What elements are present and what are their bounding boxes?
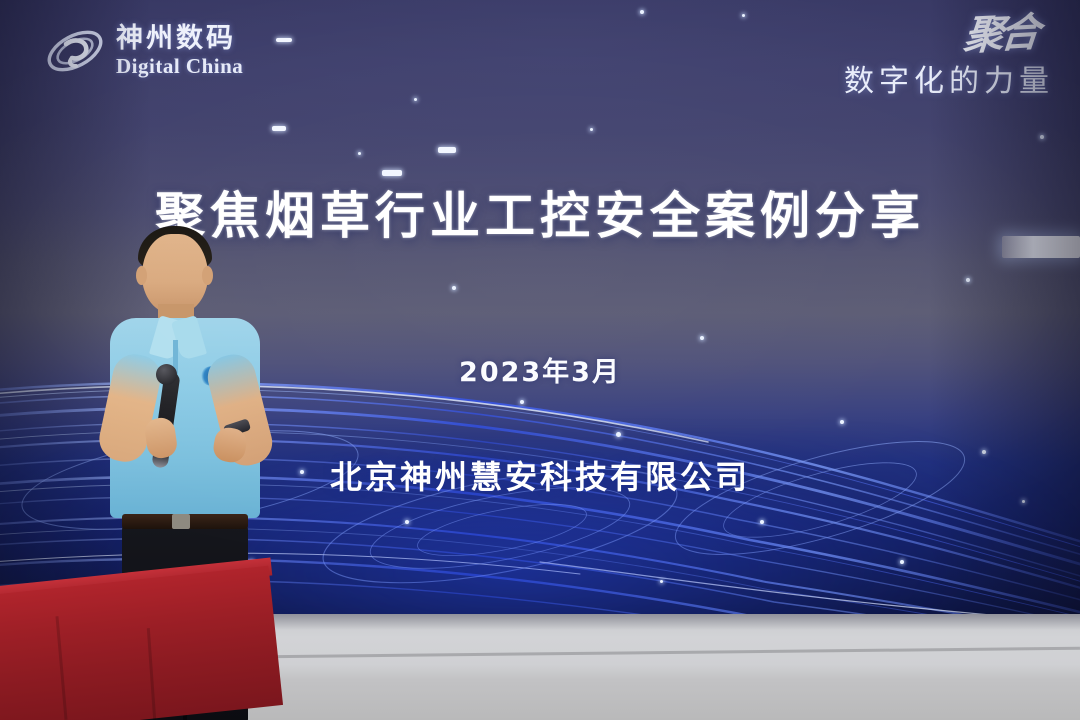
light-particle — [640, 10, 644, 14]
light-particle — [840, 420, 844, 424]
speaker-head — [142, 234, 208, 314]
light-streak — [272, 126, 286, 131]
conference-photo: 神州数码 Digital China 聚合 数字化的力量 聚焦烟草行业工控安全案… — [0, 0, 1080, 720]
light-particle — [742, 14, 745, 17]
light-particle — [660, 580, 663, 583]
light-particle — [700, 336, 704, 340]
light-particle — [414, 98, 417, 101]
speaker-ear-left — [136, 266, 147, 285]
light-particle — [405, 520, 409, 524]
light-particle — [760, 520, 764, 524]
speaker-belt-buckle — [172, 514, 190, 529]
logo-english-name: Digital China — [116, 56, 243, 77]
light-particle — [900, 560, 904, 564]
logo-chinese-name: 神州数码 — [116, 25, 243, 52]
light-particle — [1022, 500, 1025, 503]
light-streak — [276, 38, 292, 42]
light-particle — [520, 400, 524, 404]
red-tablecloth — [0, 566, 283, 720]
slogan-calligraphy: 聚合 — [962, 12, 1056, 57]
digital-china-logo: 神州数码 Digital China — [44, 22, 243, 80]
slogan-subtitle: 数字化的力量 — [844, 56, 1054, 100]
event-slogan: 聚合 数字化的力量 — [844, 14, 1054, 100]
light-particle — [616, 432, 621, 437]
light-particle — [966, 278, 970, 282]
light-streak — [438, 147, 456, 153]
galaxy-swirl-icon — [44, 22, 106, 80]
light-particle — [590, 128, 593, 131]
light-particle — [358, 152, 361, 155]
light-particle — [1040, 135, 1044, 139]
screen-edge-reflection — [1002, 236, 1080, 258]
light-particle — [452, 286, 456, 290]
speaker-ear-right — [202, 266, 213, 285]
